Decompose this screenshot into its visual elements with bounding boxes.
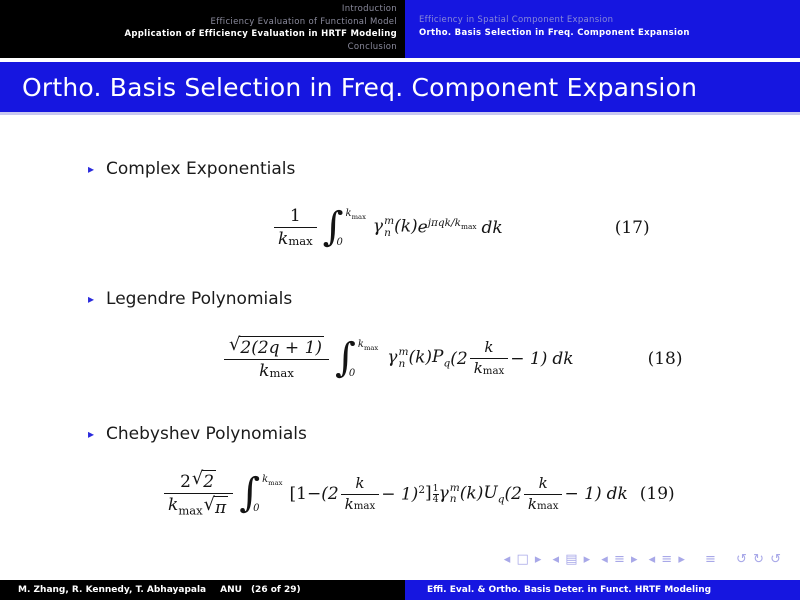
fraction-numerator: 2√2	[176, 470, 221, 492]
footer-institution: ANU	[220, 585, 242, 595]
inner-fraction-denominator: kmax	[470, 360, 509, 378]
fraction-bar	[164, 493, 233, 494]
exponential-term: ejπqk/kmax	[418, 217, 477, 238]
bracket-close: ]14	[425, 483, 439, 505]
fraction-numerator: 1	[286, 206, 305, 226]
integral-upper-limit: kmax	[358, 339, 378, 352]
bullet-item-complex-exponentials: ▸ Complex Exponentials	[0, 158, 800, 180]
footer-short-title: Effi. Eval. & Ortho. Basis Deter. in Fun…	[427, 585, 711, 595]
integral-upper-limit: kmax	[346, 208, 366, 221]
inner-fraction-numerator: k	[480, 339, 497, 357]
square-root-icon: √2	[192, 470, 216, 492]
integral-sign-group: ∫ kmax 0	[323, 208, 366, 248]
header-navigation-bar: Introduction Efficiency Evaluation of Fu…	[0, 0, 800, 58]
footer-right: Effi. Eval. & Ortho. Basis Deter. in Fun…	[405, 580, 800, 600]
footer-left: M. Zhang, R. Kennedy, T. Abhayapala ANU …	[0, 580, 405, 600]
footer-authors: M. Zhang, R. Kennedy, T. Abhayapala	[18, 585, 206, 595]
integral-lower-limit: 0	[253, 503, 282, 514]
nav-slide-icon[interactable]: ◂ □ ▸	[504, 552, 543, 567]
equation-17-expression: 1 kmax ∫ kmax 0 γmn(k) ejπqk/kmax dk	[272, 206, 503, 249]
argument-open: (2	[450, 349, 467, 369]
equation-number: (17)	[615, 218, 650, 238]
triangle-bullet-icon: ▸	[88, 423, 94, 445]
argument-open: (2	[504, 484, 521, 504]
fraction-denominator: kmax	[255, 361, 298, 381]
chebyshev-polynomial-symbol: Uq	[483, 483, 504, 505]
subsection-navigation: Efficiency in Spatial Component Expansio…	[405, 0, 800, 58]
integral-upper-limit: kmax	[262, 474, 282, 487]
nav-subsection-item[interactable]: Efficiency in Spatial Component Expansio…	[419, 14, 800, 27]
inner-fraction-denominator: kmax	[341, 496, 380, 514]
nav-document-icon[interactable]: ≡	[705, 552, 717, 567]
title-underline	[0, 112, 800, 115]
nav-section-item-current[interactable]: Application of Efficiency Evaluation in …	[0, 28, 397, 41]
fraction-bar	[224, 359, 329, 360]
nav-section-item[interactable]: Efficiency Evaluation of Functional Mode…	[0, 16, 397, 29]
nav-back-forward-icon[interactable]: ↺ ↻ ↺	[736, 552, 782, 567]
fraction-bar	[274, 227, 317, 228]
square-root-icon: √ 2(2q + 1)	[229, 336, 324, 358]
beamer-navigation-symbols: ◂ □ ▸ ◂ ▤ ▸ ◂ ≡ ▸ ◂ ≡ ▸ ≡ ↺ ↻ ↺	[0, 552, 800, 568]
gamma-term: γmn(k)	[387, 347, 432, 369]
equation-18: √ 2(2q + 1) kmax ∫ kmax 0 γmn(k) Pq	[0, 336, 800, 381]
argument-close: − 1)	[564, 484, 601, 504]
footer-bar: M. Zhang, R. Kennedy, T. Abhayapala ANU …	[0, 580, 800, 600]
gamma-term: γmn(k)	[439, 483, 484, 505]
bullet-label: Chebyshev Polynomials	[106, 423, 307, 445]
nav-section-item[interactable]: Conclusion	[0, 41, 397, 54]
integral-sign-group: ∫ kmax 0	[239, 474, 282, 514]
nav-section-icon[interactable]: ◂ ≡ ▸	[649, 552, 686, 567]
slide-title: Ortho. Basis Selection in Freq. Componen…	[0, 73, 697, 102]
slide-title-bar: Ortho. Basis Selection in Freq. Componen…	[0, 62, 800, 112]
argument-close: − 1)	[510, 349, 547, 369]
fraction-numerator: √ 2(2q + 1)	[224, 336, 329, 358]
bullet-item-legendre-polynomials: ▸ Legendre Polynomials	[0, 288, 800, 310]
bullet-label: Legendre Polynomials	[106, 288, 292, 310]
inner-fraction-numerator: k	[351, 475, 368, 493]
equation-number: (19)	[640, 484, 675, 504]
bullet-label: Complex Exponentials	[106, 158, 295, 180]
triangle-bullet-icon: ▸	[88, 158, 94, 180]
footer-page-number: (26 of 29)	[251, 585, 301, 595]
nav-subsection-icon[interactable]: ◂ ≡ ▸	[601, 552, 638, 567]
nav-frame-icon[interactable]: ◂ ▤ ▸	[553, 552, 592, 567]
inner-fraction-numerator: k	[535, 475, 552, 493]
slide-content: ▸ Complex Exponentials 1 kmax ∫ kmax 0	[0, 118, 800, 548]
equation-19-expression: 2√2 kmax√π ∫ kmax 0 [1 − (2 k km	[162, 470, 628, 518]
section-navigation: Introduction Efficiency Evaluation of Fu…	[0, 0, 405, 58]
bracket-open: [1	[289, 484, 306, 504]
inner-fraction-denominator: kmax	[524, 496, 563, 514]
differential: dk	[552, 349, 573, 369]
nav-subsection-item-current[interactable]: Ortho. Basis Selection in Freq. Componen…	[419, 27, 800, 40]
differential: dk	[607, 484, 628, 504]
paren-close: − 1)2	[381, 484, 425, 505]
equation-number: (18)	[648, 349, 683, 369]
equation-19: 2√2 kmax√π ∫ kmax 0 [1 − (2 k km	[0, 470, 800, 518]
legendre-polynomial-symbol: Pq	[432, 347, 450, 369]
equation-18-expression: √ 2(2q + 1) kmax ∫ kmax 0 γmn(k) Pq	[222, 336, 574, 381]
paren-open: (2	[321, 484, 338, 504]
equation-17: 1 kmax ∫ kmax 0 γmn(k) ejπqk/kmax dk (17…	[0, 206, 800, 249]
integral-lower-limit: 0	[337, 237, 366, 248]
fraction-denominator: kmax	[274, 229, 317, 249]
integral-sign-group: ∫ kmax 0	[335, 339, 378, 379]
fraction-denominator: kmax√π	[164, 495, 233, 518]
triangle-bullet-icon: ▸	[88, 288, 94, 310]
integral-lower-limit: 0	[349, 368, 378, 379]
minus-sign: −	[307, 484, 321, 504]
gamma-term: γmn(k)	[373, 216, 418, 238]
differential: dk	[482, 218, 503, 238]
bullet-item-chebyshev-polynomials: ▸ Chebyshev Polynomials	[0, 423, 800, 445]
nav-section-item[interactable]: Introduction	[0, 3, 397, 16]
square-root-icon: √π	[204, 496, 229, 518]
